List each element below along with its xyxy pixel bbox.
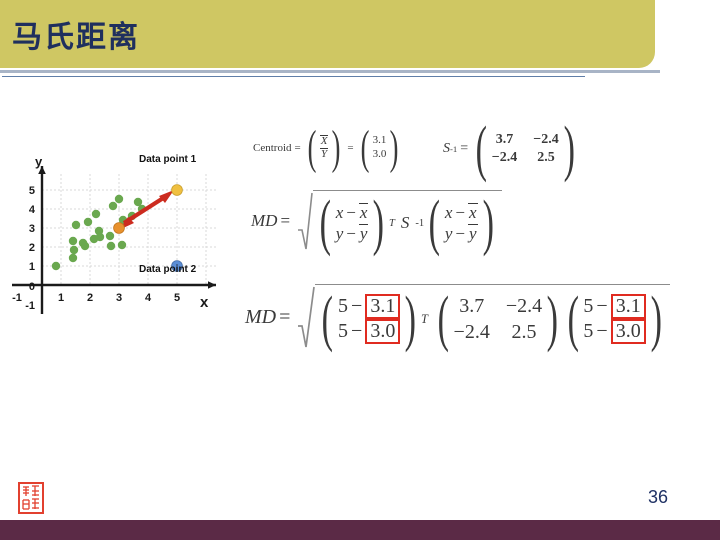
left-paren-icon: ( [360,128,369,167]
radical-sign-icon [297,190,313,252]
term-y: y [336,223,344,244]
left-paren-icon: ( [476,124,487,175]
md-general-vec-row2: y − y [336,223,369,244]
divider-thick [0,70,660,73]
value-5: 5 [338,319,348,344]
chinese-seal-stamp-icon [18,482,44,514]
md-numeric-left-row2: 5 − 3.0 [338,319,400,344]
md-numeric-left-vector: 5 − 3.1 5 − 3.0 [338,294,400,344]
chart-centroid-point [114,223,125,234]
centroid-formula: Centroid = ( X Y ) = ( 3.1 3.0 ) [253,128,402,167]
s-inverse-matrix: 3.7 −2.4 −2.4 2.5 [492,132,559,168]
svg-text:1: 1 [29,261,35,273]
term-y-mean: y [468,224,478,243]
term-x: x [445,202,453,223]
chart-x-axis-label: x [200,294,209,311]
minus-sign: − [346,202,356,223]
chart-cluster-points [52,195,146,270]
matrix-cell-10: −2.4 [492,150,517,167]
right-paren-icon: ) [482,198,493,249]
value-5: 5 [338,294,348,319]
scatter-chart: 1 2 3 4 5 0 -1 -1 1 2 3 4 5 y x [8,144,230,324]
divider-thin [2,76,585,77]
term-x-mean: x [359,203,369,222]
minus-sign: − [455,202,465,223]
svg-text:3: 3 [116,292,122,304]
md-general-transpose: T [389,218,395,229]
centroid-symbol-vector: X Y [320,135,329,160]
term-y-mean: y [359,224,369,243]
centroid-equals: = [295,142,301,154]
radical-group: ( 5 − 3.1 5 − 3.0 ) T [297,284,670,350]
md-numeric-right-row1: 5 − 3.1 [583,294,645,319]
md-general-vec-row1: x − x [445,202,478,223]
centroid-symbol-y: Y [320,148,328,161]
md-numeric-right-vector: 5 − 3.1 5 − 3.0 [583,294,645,344]
chart-axes [12,166,216,314]
md-numeric-radicand: ( 5 − 3.1 5 − 3.0 ) T [315,284,670,350]
svg-text:3: 3 [29,223,35,235]
matrix-cell-00: 3.7 [454,294,490,318]
md-general-lhs: MD [251,211,277,231]
formula-row-top: Centroid = ( X Y ) = ( 3.1 3.0 ) S-1 = [245,124,715,174]
term-x-mean: x [468,203,478,222]
minus-sign: − [346,223,356,244]
chart-annotation-data-point-1: Data point 1 [139,154,196,165]
svg-text:2: 2 [87,292,93,304]
svg-text:-1: -1 [25,300,35,312]
footer-bar [0,520,720,540]
md-general-middle-exponent: -1 [415,218,424,229]
minus-sign: − [596,294,607,319]
md-general-middle: S [401,213,410,233]
right-paren-icon: ) [650,294,661,345]
term-y: y [445,223,453,244]
matrix-cell-10: −2.4 [454,320,490,344]
right-paren-icon: ) [390,128,399,167]
minus-sign: − [351,294,362,319]
value-5: 5 [583,319,593,344]
svg-text:1: 1 [58,292,64,304]
chart-distance-arrow [119,190,174,230]
chart-y-ticks: 1 2 3 4 5 0 -1 [25,185,36,312]
md-general-formula: MD = ( x − x y − [251,190,502,252]
s-inverse-equals: = [460,141,468,157]
term-x: x [336,202,344,223]
md-general-vec-row1: x − x [336,202,369,223]
left-paren-icon: ( [567,294,578,345]
highlighted-mean-x: 3.1 [611,294,646,319]
highlighted-mean-y: 3.0 [611,319,646,344]
md-general-radicand: ( x − x y − y ) T [313,190,502,252]
scatter-chart-svg: 1 2 3 4 5 0 -1 -1 1 2 3 4 5 y x [8,144,230,324]
svg-text:5: 5 [29,185,35,197]
radical-group: ( x − x y − y ) T [297,190,502,252]
slide-content: 1 2 3 4 5 0 -1 -1 1 2 3 4 5 y x [0,86,720,466]
md-numeric-left-row1: 5 − 3.1 [338,294,400,319]
svg-text:-1: -1 [12,292,22,304]
md-general-left-vector: x − x y − y [336,202,369,245]
md-numeric-equals: = [279,306,290,329]
s-inverse-exponent: -1 [450,144,457,154]
highlighted-mean-x: 3.1 [365,294,400,319]
centroid-symbol-x: X [320,135,329,148]
md-general-equals: = [280,211,290,231]
left-paren-icon: ( [320,198,331,249]
centroid-value-y: 3.0 [373,148,387,162]
md-numeric-formula: MD = ( 5 − 3.1 5 − [245,284,670,350]
md-numeric-right-row2: 5 − 3.0 [583,319,645,344]
matrix-cell-11: 2.5 [533,150,558,167]
matrix-cell-11: 2.5 [506,320,542,344]
matrix-cell-01: −2.4 [506,294,542,318]
md-general-right-vector: x − x y − y [445,202,478,245]
left-paren-icon: ( [322,294,333,345]
minus-sign: − [596,319,607,344]
md-numeric-matrix: 3.7 −2.4 −2.4 2.5 [454,294,543,344]
s-inverse-symbol: S [443,141,450,157]
right-paren-icon: ) [563,124,574,175]
s-inverse-formula: S-1 = ( 3.7 −2.4 −2.4 2.5 ) [443,124,579,175]
centroid-equals-2: = [347,142,353,154]
svg-text:4: 4 [145,292,152,304]
right-paren-icon: ) [405,294,416,345]
right-paren-icon: ) [547,294,558,345]
left-paren-icon: ( [429,198,440,249]
svg-text:4: 4 [29,204,36,216]
chart-annotation-data-point-2: Data point 2 [139,264,196,275]
md-general-vec-row2: y − y [445,223,478,244]
chart-x-ticks: -1 1 2 3 4 5 [12,292,180,304]
matrix-cell-01: −2.4 [533,132,558,149]
md-numeric-transpose: T [421,312,428,327]
formula-area: Centroid = ( X Y ) = ( 3.1 3.0 ) S-1 = [245,124,715,374]
left-paren-icon: ( [438,294,449,345]
page-title: 马氏距离 [12,12,140,56]
minus-sign: − [455,223,465,244]
svg-text:2: 2 [29,242,35,254]
page-number: 36 [648,487,668,508]
minus-sign: − [351,319,362,344]
svg-text:0: 0 [29,281,35,293]
centroid-value-x: 3.1 [373,134,387,148]
chart-data-point-1 [172,185,183,196]
chart-y-axis-label: y [35,154,43,169]
right-paren-icon: ) [373,198,384,249]
md-numeric-lhs: MD [245,306,276,329]
highlighted-mean-y: 3.0 [365,319,400,344]
left-paren-icon: ( [307,128,316,167]
centroid-value-vector: 3.1 3.0 [373,134,387,162]
centroid-label: Centroid [253,142,292,154]
value-5: 5 [583,294,593,319]
svg-text:5: 5 [174,292,180,304]
right-paren-icon: ) [332,128,341,167]
radical-sign-icon [297,284,315,350]
matrix-cell-00: 3.7 [492,132,517,149]
